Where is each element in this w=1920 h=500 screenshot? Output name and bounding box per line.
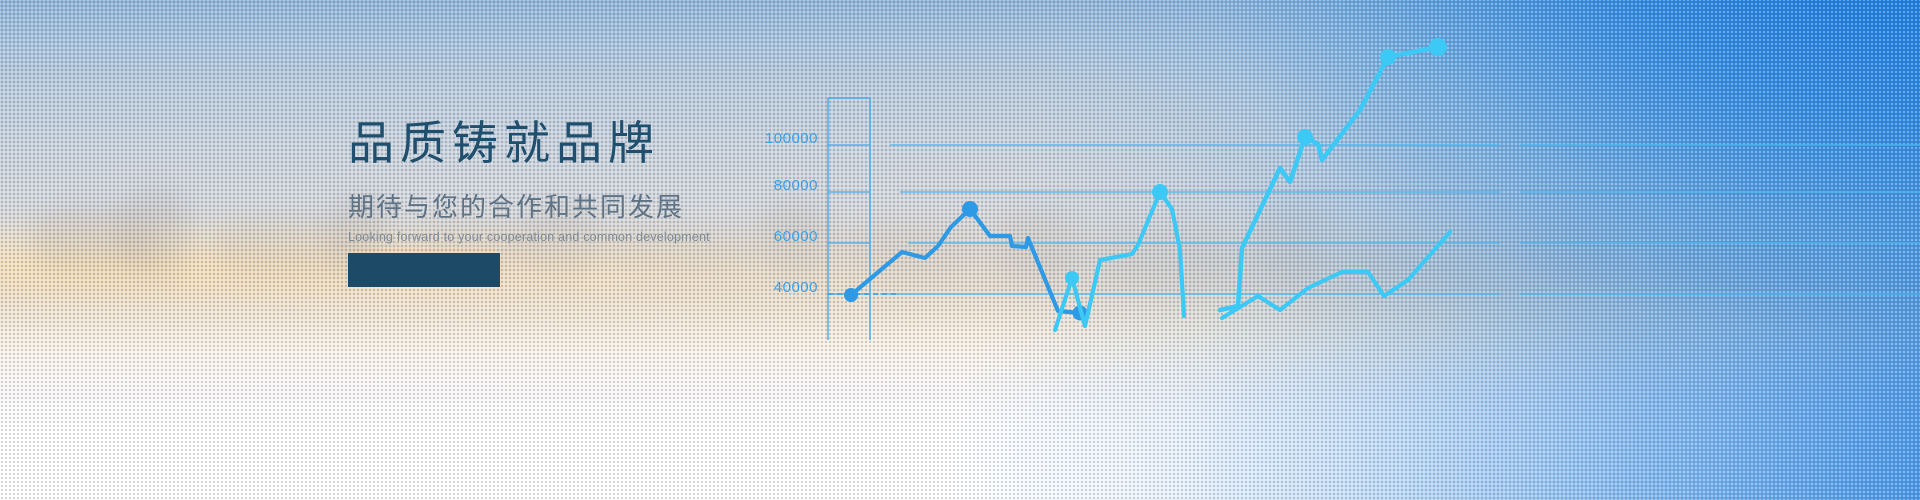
chart-axis <box>828 98 870 340</box>
ytick-label: 80000 <box>774 177 818 194</box>
cta-button[interactable] <box>348 253 500 287</box>
chart-gridlines <box>828 145 1920 294</box>
chart-svg: 100000 80000 60000 40000 <box>760 0 1920 500</box>
hero-banner: 品质铸就品牌 期待与您的合作和共同发展 Looking forward to y… <box>0 0 1920 500</box>
ytick-label: 40000 <box>774 279 818 296</box>
chart-ytick-labels: 100000 80000 60000 40000 <box>765 130 818 296</box>
ytick-label: 60000 <box>774 228 818 245</box>
chart-series-4 <box>1222 232 1450 318</box>
ytick-label: 100000 <box>765 130 818 147</box>
chart-series-1 <box>844 201 1088 321</box>
cta-button-label <box>348 253 500 287</box>
chart-series-3 <box>1220 38 1447 310</box>
decorative-line-chart: 100000 80000 60000 40000 <box>760 0 1920 500</box>
